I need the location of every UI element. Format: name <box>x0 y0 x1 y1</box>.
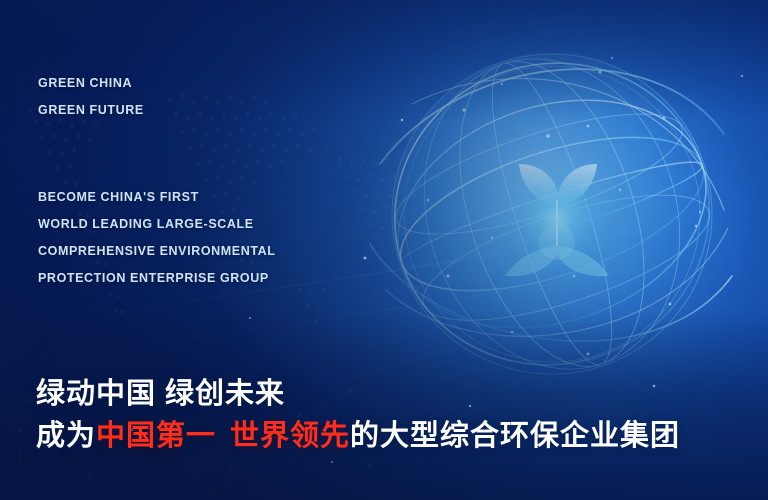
en-body-line-1: BECOME CHINA'S FIRST <box>38 184 276 211</box>
headline-highlight-a: 中国第一 <box>96 420 216 452</box>
en-top-line-1: GREEN CHINA <box>38 70 144 97</box>
headline-line-2: 成为中国第一世界领先的大型综合环保企业集团 <box>36 414 680 458</box>
headline-prefix: 成为 <box>36 420 96 452</box>
headline-line-1: 绿动中国 绿创未来 <box>36 374 680 414</box>
en-top-line-2: GREEN FUTURE <box>38 97 144 124</box>
en-body-line-2: WORLD LEADING LARGE-SCALE <box>38 211 276 238</box>
hero-banner: GREEN CHINA GREEN FUTURE BECOME CHINA'S … <box>0 0 768 500</box>
headline-highlight-b: 世界领先 <box>230 420 350 452</box>
en-body-line-4: PROTECTION ENTERPRISE GROUP <box>38 265 276 292</box>
headline-suffix: 的大型综合环保企业集团 <box>350 420 680 452</box>
en-body-line-3: COMPREHENSIVE ENVIRONMENTAL <box>38 238 276 265</box>
english-tagline-body: BECOME CHINA'S FIRST WORLD LEADING LARGE… <box>38 184 276 292</box>
english-tagline-top: GREEN CHINA GREEN FUTURE <box>38 70 144 124</box>
chinese-headline: 绿动中国 绿创未来 成为中国第一世界领先的大型综合环保企业集团 <box>36 374 680 458</box>
